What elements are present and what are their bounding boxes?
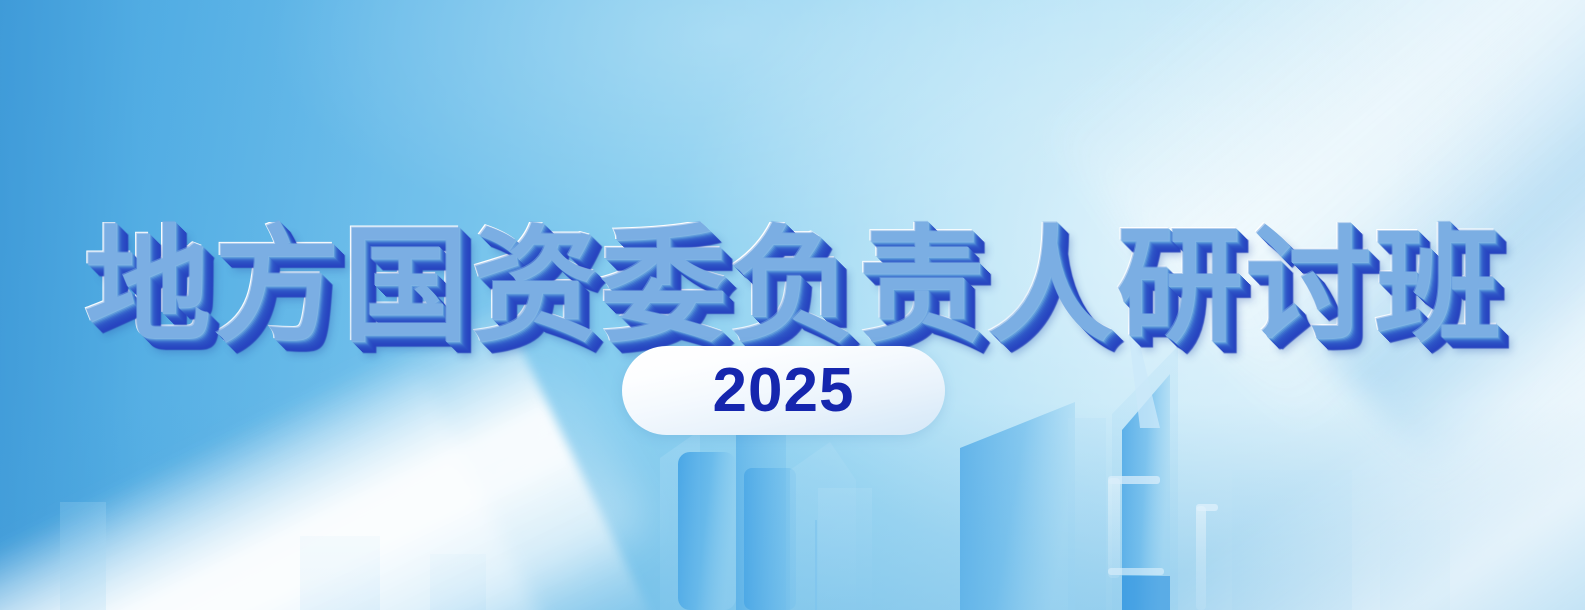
building-fin-left	[1108, 478, 1120, 578]
building-band	[1108, 568, 1164, 575]
building-tower-b	[744, 468, 796, 610]
building-ghost-left	[300, 536, 380, 610]
light-streak-bottom-right	[1079, 273, 1585, 610]
building-wedge-a	[736, 414, 786, 610]
building-wedge-b	[790, 442, 856, 610]
event-banner: 地方国资委负责人研讨班 2025	[0, 0, 1585, 610]
background-left-shade	[0, 0, 1585, 610]
building-slab-far-left	[60, 502, 106, 610]
background-glow-top	[0, 0, 1585, 610]
building-slim-fin	[1196, 506, 1206, 610]
building-left-cap	[660, 430, 700, 610]
banner-title: 地方国资委负责人研讨班	[83, 222, 1502, 348]
building-slim-fin-cap	[1196, 504, 1218, 511]
year-badge-label: 2025	[713, 360, 855, 422]
building-main-block	[960, 402, 1075, 610]
background-glow-right	[0, 0, 1585, 610]
building-tower-a	[678, 452, 736, 610]
building-ghost-far-right	[1380, 520, 1450, 610]
light-streak-bottom-left-halo	[0, 203, 649, 610]
building-slab-b	[818, 488, 872, 610]
light-streak-bottom-right-soft	[1110, 350, 1585, 610]
light-streak-top-right	[1039, 0, 1585, 445]
light-streak-bottom-left-soft	[0, 313, 581, 610]
building-ghost-left-2	[430, 554, 486, 610]
building-base-dark	[1122, 576, 1170, 610]
light-streak-bottom-left	[0, 207, 657, 610]
light-streak-top-right-soft	[1262, 0, 1585, 479]
building-tall-backplate	[1112, 346, 1178, 610]
building-fin-cap	[1108, 476, 1160, 484]
year-badge: 2025	[622, 346, 945, 435]
building-spire	[1128, 328, 1160, 428]
building-tall-tower	[1122, 374, 1170, 610]
building-ghost-right	[1232, 470, 1352, 610]
building-main-side	[1068, 418, 1106, 610]
background-bottom-shade	[0, 0, 1585, 610]
